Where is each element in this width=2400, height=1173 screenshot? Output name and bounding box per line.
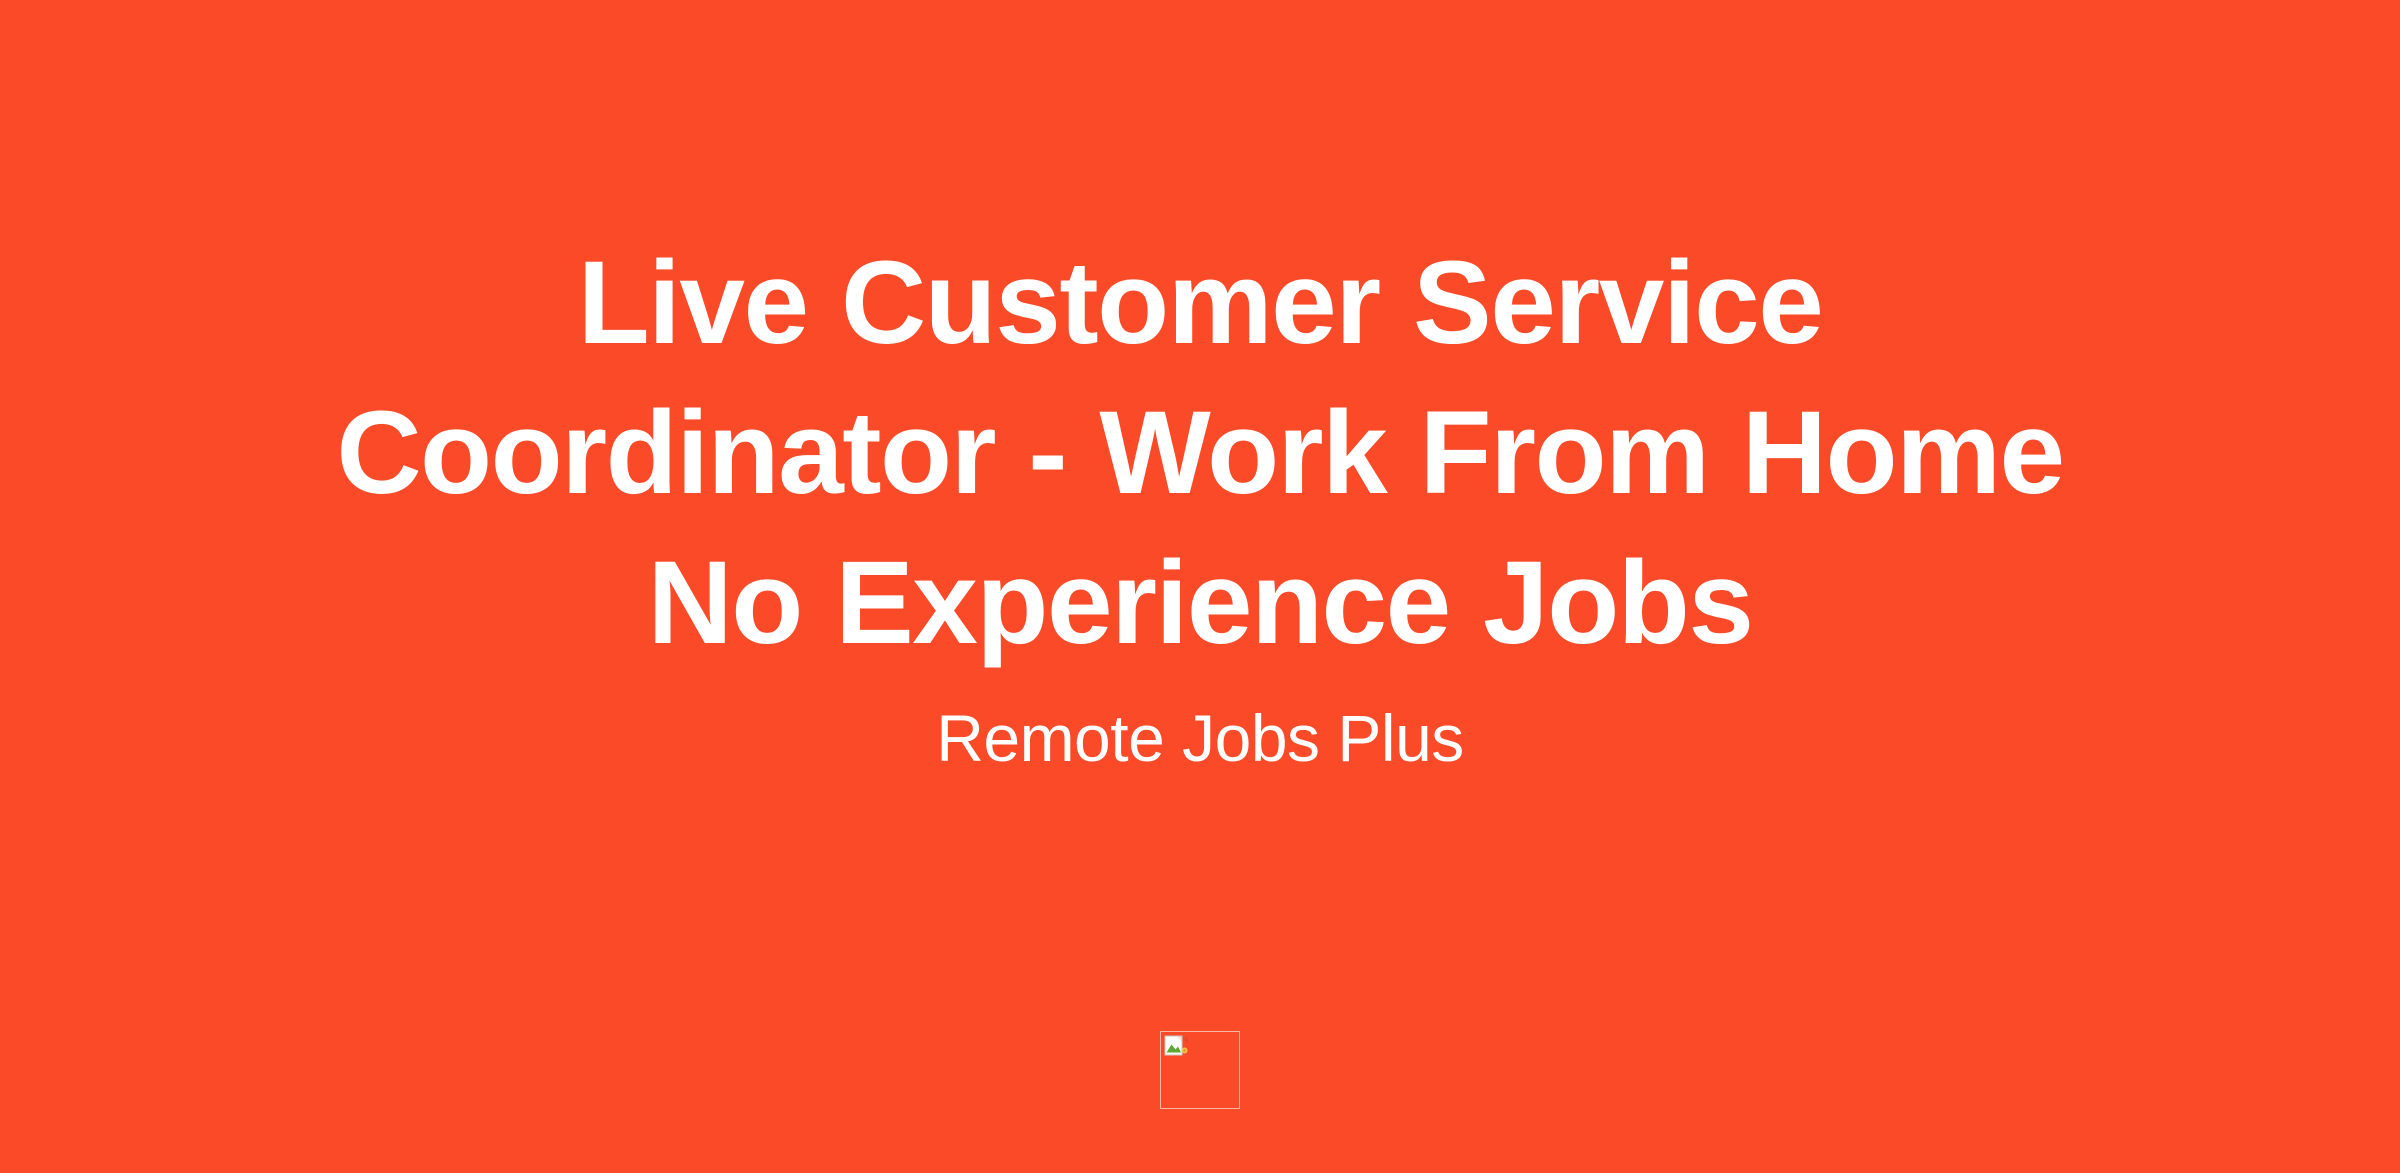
page-subtitle: Remote Jobs Plus bbox=[0, 678, 2400, 780]
page-root: Live Customer Service Coordinator - Work… bbox=[0, 0, 2400, 1173]
hero-image-slot bbox=[1160, 1031, 1240, 1109]
broken-image-icon bbox=[1164, 1035, 1190, 1059]
page-title: Live Customer Service Coordinator - Work… bbox=[0, 228, 2400, 678]
broken-image-placeholder[interactable] bbox=[1160, 1031, 1240, 1109]
hero-section: Live Customer Service Coordinator - Work… bbox=[0, 0, 2400, 780]
